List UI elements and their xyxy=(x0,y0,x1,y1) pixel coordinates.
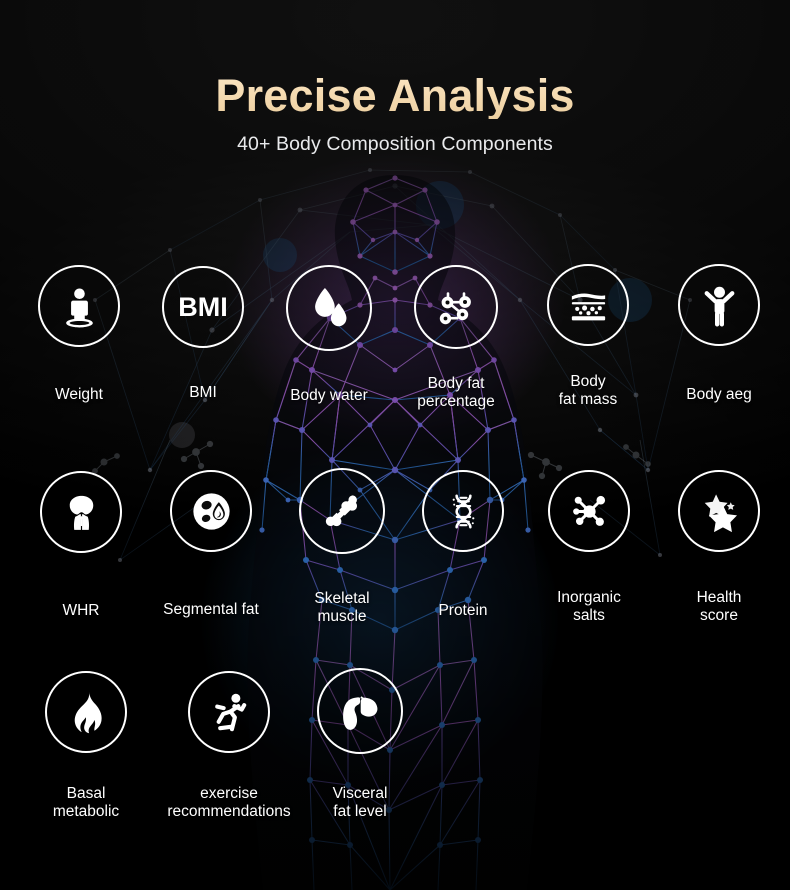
metric-label-basal-metabolic: Basal metabolic xyxy=(6,785,166,822)
metric-item-visceral-fat-level[interactable]: Visceral fat level xyxy=(280,668,440,754)
metric-circle-whr[interactable] xyxy=(40,471,122,553)
metric-circle-segmental-fat[interactable] xyxy=(170,470,252,552)
metric-circle-inorganic-salts[interactable] xyxy=(548,470,630,552)
metric-circle-exercise-recommendations[interactable] xyxy=(188,671,270,753)
metric-item-basal-metabolic[interactable]: Basal metabolic xyxy=(6,671,166,753)
metric-label-visceral-fat-level: Visceral fat level xyxy=(280,785,440,822)
page-title: Precise Analysis xyxy=(0,72,790,119)
metric-circle-body-fat-mass[interactable] xyxy=(547,264,629,346)
header: Precise Analysis 40+ Body Composition Co… xyxy=(0,0,790,156)
fat-layer-icon xyxy=(565,282,612,329)
metric-circle-protein[interactable] xyxy=(422,470,504,552)
metric-label-body-aeg: Body aeg xyxy=(639,386,790,404)
page-subtitle: 40+ Body Composition Components xyxy=(0,133,790,156)
fat-molecule-icon xyxy=(432,283,480,331)
metric-circle-skeletal-muscle[interactable] xyxy=(299,468,385,554)
metric-circle-visceral-fat-level[interactable] xyxy=(317,668,403,754)
liver-icon xyxy=(336,687,385,736)
metric-item-body-aeg[interactable]: Body aeg xyxy=(639,264,790,346)
metric-item-health-score[interactable]: Health score xyxy=(639,470,790,552)
metric-circle-basal-metabolic[interactable] xyxy=(45,671,127,753)
metric-circle-body-water[interactable] xyxy=(286,265,372,351)
running-person-icon xyxy=(206,689,253,736)
mineral-molecule-icon xyxy=(566,488,613,535)
star-icon xyxy=(696,488,743,535)
dna-helix-icon xyxy=(440,488,487,535)
metric-circle-weight[interactable] xyxy=(38,265,120,347)
metric-circle-bmi[interactable]: BMI xyxy=(162,266,244,348)
metric-circle-health-score[interactable] xyxy=(678,470,760,552)
metric-circle-body-aeg[interactable] xyxy=(678,264,760,346)
bmi-text-icon: BMI xyxy=(178,294,228,321)
bone-joint-icon xyxy=(318,487,367,536)
water-drops-icon xyxy=(305,284,354,333)
metric-label-health-score: Health score xyxy=(639,589,790,626)
fat-cells-circle-icon xyxy=(188,488,235,535)
flame-icon xyxy=(63,689,110,736)
standing-person-icon xyxy=(696,282,743,329)
metric-circle-body-fat-percentage[interactable] xyxy=(414,265,498,349)
person-on-scale-icon xyxy=(56,283,103,330)
hip-waist-icon xyxy=(58,489,105,536)
poster-root: Precise Analysis 40+ Body Composition Co… xyxy=(0,0,790,890)
